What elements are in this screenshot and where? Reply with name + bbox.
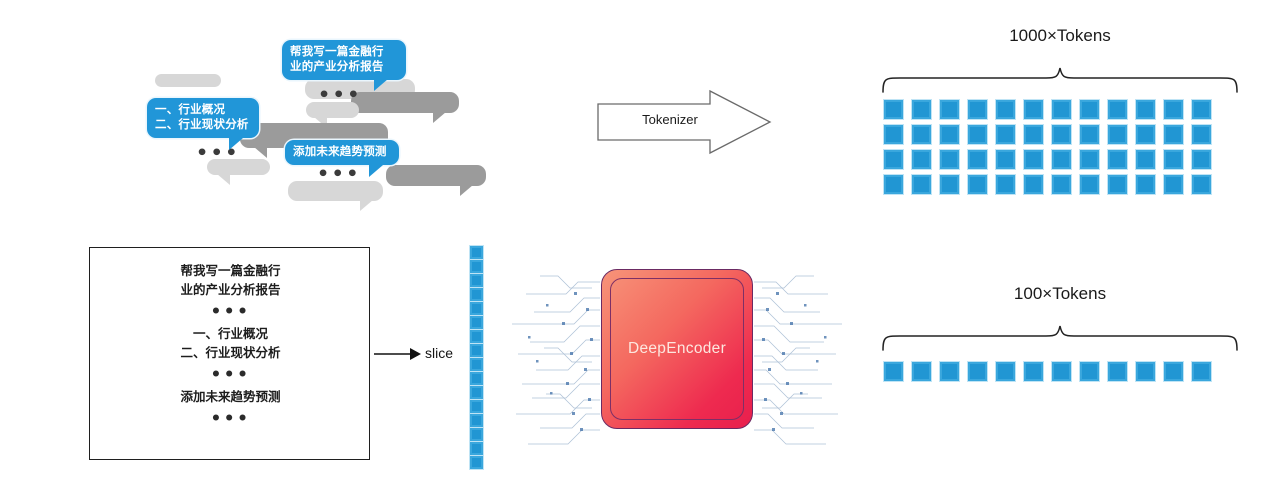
token-square bbox=[1080, 125, 1099, 144]
token-square bbox=[1024, 100, 1043, 119]
slice-square bbox=[470, 442, 483, 455]
slice-square bbox=[470, 358, 483, 371]
token-square bbox=[1052, 125, 1071, 144]
token-square bbox=[1080, 150, 1099, 169]
token-square bbox=[1080, 175, 1099, 194]
token-square bbox=[968, 150, 987, 169]
slice-square bbox=[470, 372, 483, 385]
chat-bubble-text: 一、行业概况 二、行业现状分析 bbox=[155, 104, 249, 131]
token-square bbox=[940, 100, 959, 119]
slice-square bbox=[470, 330, 483, 343]
token-square bbox=[912, 362, 931, 381]
token-square bbox=[996, 125, 1015, 144]
token-square bbox=[1192, 362, 1211, 381]
token-square bbox=[968, 125, 987, 144]
token-square bbox=[996, 150, 1015, 169]
document-line: 一、行业概况 bbox=[90, 325, 371, 344]
token-square bbox=[884, 150, 903, 169]
token-square bbox=[996, 175, 1015, 194]
document-ellipsis: ••• bbox=[90, 407, 371, 432]
token-square bbox=[1024, 362, 1043, 381]
document-line: 二、行业现状分析 bbox=[90, 344, 371, 363]
token-square bbox=[1136, 100, 1155, 119]
token-square bbox=[912, 125, 931, 144]
chat-bubble-followup[interactable]: 添加未来趋势预测 bbox=[285, 140, 399, 165]
token-square bbox=[912, 150, 931, 169]
token-square bbox=[884, 175, 903, 194]
token-square bbox=[940, 125, 959, 144]
deepencoder-chip-inner: DeepEncoder bbox=[610, 278, 744, 420]
token-square bbox=[1052, 362, 1071, 381]
token-square bbox=[968, 175, 987, 194]
document-text: 帮我写一篇金融行 业的产业分析报告 ••• 一、行业概况 二、行业现状分析 ••… bbox=[90, 262, 371, 432]
token-square bbox=[1164, 125, 1183, 144]
token-square bbox=[968, 362, 987, 381]
tokens-100-grid bbox=[884, 362, 1220, 387]
slice-square bbox=[470, 414, 483, 427]
token-square bbox=[940, 150, 959, 169]
slice-square bbox=[470, 456, 483, 469]
token-square bbox=[1024, 175, 1043, 194]
token-square bbox=[1080, 100, 1099, 119]
placeholder-bubble bbox=[155, 74, 221, 87]
slice-square bbox=[470, 386, 483, 399]
token-square bbox=[1024, 150, 1043, 169]
token-square bbox=[1192, 150, 1211, 169]
token-square bbox=[1136, 125, 1155, 144]
placeholder-bubble bbox=[351, 92, 459, 113]
document-ellipsis: ••• bbox=[90, 300, 371, 325]
token-square bbox=[1192, 175, 1211, 194]
bubble-tail bbox=[229, 138, 243, 150]
placeholder-bubble bbox=[386, 165, 486, 186]
slice-square bbox=[470, 344, 483, 357]
ellipsis-mark: ••• bbox=[317, 165, 361, 184]
token-square bbox=[1164, 175, 1183, 194]
token-square bbox=[1080, 362, 1099, 381]
slice-square bbox=[470, 288, 483, 301]
slice-square bbox=[470, 428, 483, 441]
token-square bbox=[940, 175, 959, 194]
document-ellipsis: ••• bbox=[90, 363, 371, 388]
deepencoder-label: DeepEncoder bbox=[628, 340, 726, 358]
deepencoder-chip-body: DeepEncoder bbox=[601, 269, 753, 429]
bubble-tail bbox=[433, 112, 446, 123]
deepencoder-chip: DeepEncoder bbox=[500, 252, 850, 467]
token-square bbox=[884, 125, 903, 144]
slice-strip bbox=[470, 246, 483, 470]
slice-square bbox=[470, 316, 483, 329]
chat-bubble-text: 帮我写一篇金融行 业的产业分析报告 bbox=[290, 46, 384, 73]
token-square bbox=[940, 362, 959, 381]
bubble-tail bbox=[460, 185, 473, 196]
slice-square bbox=[470, 400, 483, 413]
slice-square bbox=[470, 246, 483, 259]
slice-arrow-icon bbox=[374, 344, 422, 364]
token-square bbox=[1164, 150, 1183, 169]
token-square bbox=[884, 362, 903, 381]
document-line: 添加未来趋势预测 bbox=[90, 388, 371, 407]
document-box: 帮我写一篇金融行 业的产业分析报告 ••• 一、行业概况 二、行业现状分析 ••… bbox=[89, 247, 370, 460]
slice-label: slice bbox=[425, 345, 453, 361]
token-square bbox=[968, 100, 987, 119]
token-square bbox=[1052, 175, 1071, 194]
slice-square bbox=[470, 302, 483, 315]
token-square bbox=[1164, 100, 1183, 119]
tokens-1000-grid bbox=[884, 100, 1220, 200]
tokens-100-label: 100×Tokens bbox=[940, 284, 1180, 304]
chat-bubble-text: 添加未来趋势预测 bbox=[293, 146, 387, 158]
token-square bbox=[1024, 125, 1043, 144]
diagram-canvas: ••• ••• ••• 帮我写一篇金融行 业的产业分析报告 一、行业概况 二、行… bbox=[0, 0, 1280, 492]
token-square bbox=[1192, 100, 1211, 119]
bubble-tail bbox=[360, 200, 373, 211]
brace-top bbox=[880, 66, 1240, 94]
bubble-tail bbox=[254, 147, 267, 158]
token-square bbox=[1136, 175, 1155, 194]
token-square bbox=[1052, 100, 1071, 119]
token-square bbox=[1136, 362, 1155, 381]
token-square bbox=[1052, 150, 1071, 169]
bubble-tail bbox=[369, 165, 383, 177]
chat-bubble-request[interactable]: 帮我写一篇金融行 业的产业分析报告 bbox=[282, 40, 406, 80]
chat-bubble-outline[interactable]: 一、行业概况 二、行业现状分析 bbox=[147, 98, 259, 138]
tokenizer-arrow: Tokenizer bbox=[596, 88, 772, 156]
token-square bbox=[1108, 175, 1127, 194]
token-square bbox=[1192, 125, 1211, 144]
bubble-tail bbox=[374, 79, 388, 91]
ellipsis-mark: ••• bbox=[318, 86, 362, 105]
bubble-tail bbox=[217, 174, 230, 185]
token-square bbox=[1108, 362, 1127, 381]
token-square bbox=[884, 100, 903, 119]
tokenizer-label: Tokenizer bbox=[620, 112, 720, 127]
document-line: 业的产业分析报告 bbox=[90, 281, 371, 300]
token-square bbox=[912, 100, 931, 119]
token-square bbox=[1108, 125, 1127, 144]
slice-square bbox=[470, 274, 483, 287]
token-square bbox=[1136, 150, 1155, 169]
tokens-1000-label: 1000×Tokens bbox=[940, 26, 1180, 46]
slice-square bbox=[470, 260, 483, 273]
token-square bbox=[1164, 362, 1183, 381]
token-square bbox=[1108, 100, 1127, 119]
brace-bottom bbox=[880, 324, 1240, 352]
token-square bbox=[912, 175, 931, 194]
token-square bbox=[996, 100, 1015, 119]
token-square bbox=[996, 362, 1015, 381]
document-line: 帮我写一篇金融行 bbox=[90, 262, 371, 281]
token-square bbox=[1108, 150, 1127, 169]
